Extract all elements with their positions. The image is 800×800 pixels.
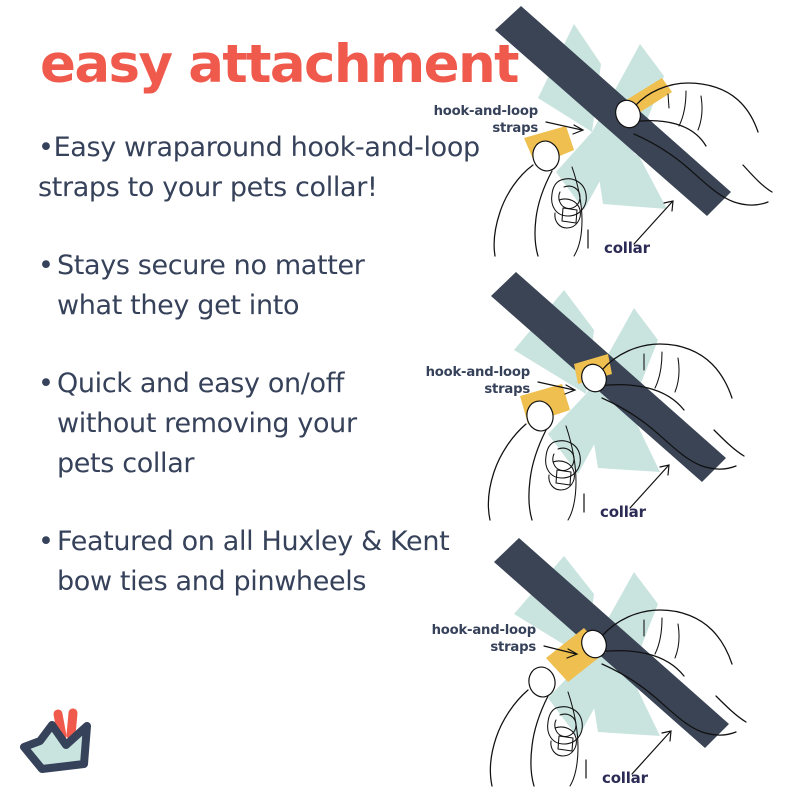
strap-label-line1: hook-and-loop xyxy=(434,104,538,119)
crown-icon xyxy=(24,713,87,769)
list-item-label: Stays secure no matter what they get int… xyxy=(38,246,430,326)
strap-label-line2: straps xyxy=(484,382,530,397)
list-item-label: Quick and easy on/off without removing y… xyxy=(38,364,378,484)
strap-label-line2: straps xyxy=(490,640,536,655)
infographic-page: easy attachment •Easy wraparound hook-an… xyxy=(0,0,800,800)
crown-shape xyxy=(24,725,87,769)
strap-label-line1: hook-and-loop xyxy=(432,623,536,638)
bullet-marker: • xyxy=(38,364,54,404)
brand-logo xyxy=(18,700,110,784)
illustration-step-2: hook-and-loop straps collar xyxy=(396,272,800,534)
bullet-marker: • xyxy=(38,522,54,562)
collar-leader-arrow xyxy=(630,465,669,508)
bullet-marker: • xyxy=(38,246,54,286)
illustration-step-3: hook-and-loop straps collar xyxy=(396,534,800,796)
illustration-step-1: hook-and-loop straps collar xyxy=(396,4,800,266)
collar-leader-arrow xyxy=(632,731,671,774)
list-item: • Quick and easy on/off without removing… xyxy=(38,364,378,484)
bullet-marker: • xyxy=(38,132,54,163)
collar-label: collar xyxy=(604,239,651,257)
collar-label: collar xyxy=(600,503,647,521)
collar-label: collar xyxy=(602,769,649,787)
list-item: • Stays secure no matter what they get i… xyxy=(38,246,430,326)
strap-label-line1: hook-and-loop xyxy=(426,365,530,380)
strap-label-line2: straps xyxy=(492,121,538,136)
